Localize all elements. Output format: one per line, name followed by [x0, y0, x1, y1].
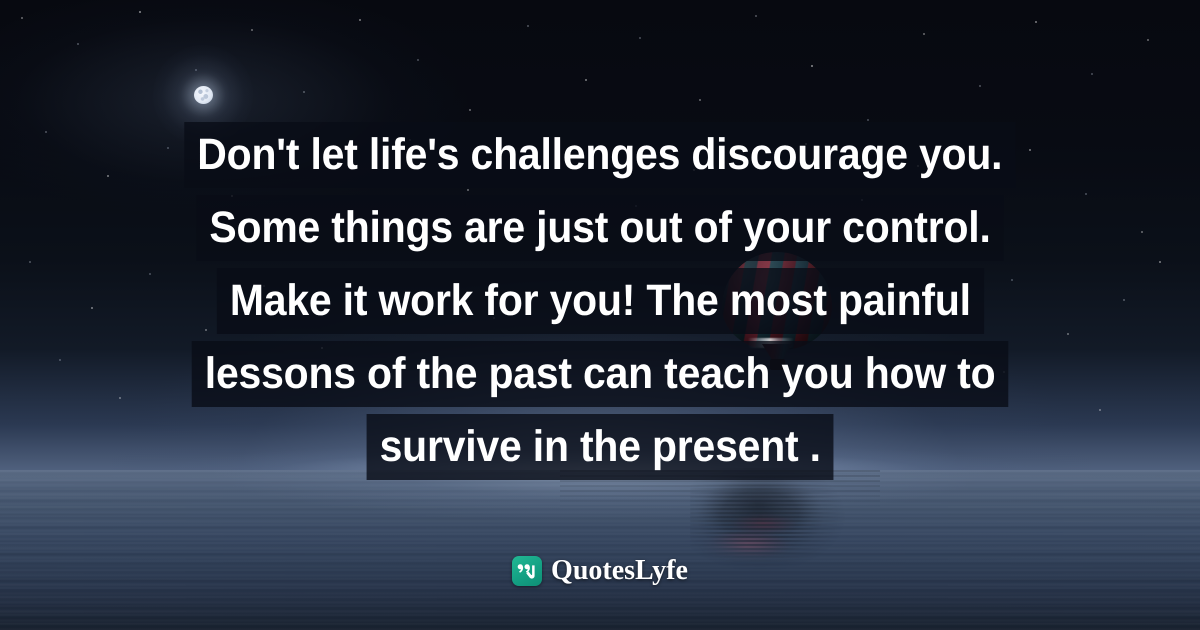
quote-marks-icon — [512, 556, 542, 586]
quote-line: Don't let life's challenges discourage y… — [184, 122, 1015, 188]
quote-line: Make it work for you! The most painful — [217, 268, 984, 334]
quote-card: Don't let life's challenges discourage y… — [0, 0, 1200, 630]
quote-block: Don't let life's challenges discourage y… — [0, 122, 1200, 487]
brand-logo[interactable]: QuotesLyfe — [0, 556, 1200, 586]
quote-line: lessons of the past can teach you how to — [192, 341, 1009, 407]
quote-line: Some things are just out of your control… — [196, 195, 1003, 261]
brand-name: QuotesLyfe — [551, 556, 688, 586]
quote-line: survive in the present . — [366, 414, 833, 480]
moon-icon — [194, 86, 213, 104]
